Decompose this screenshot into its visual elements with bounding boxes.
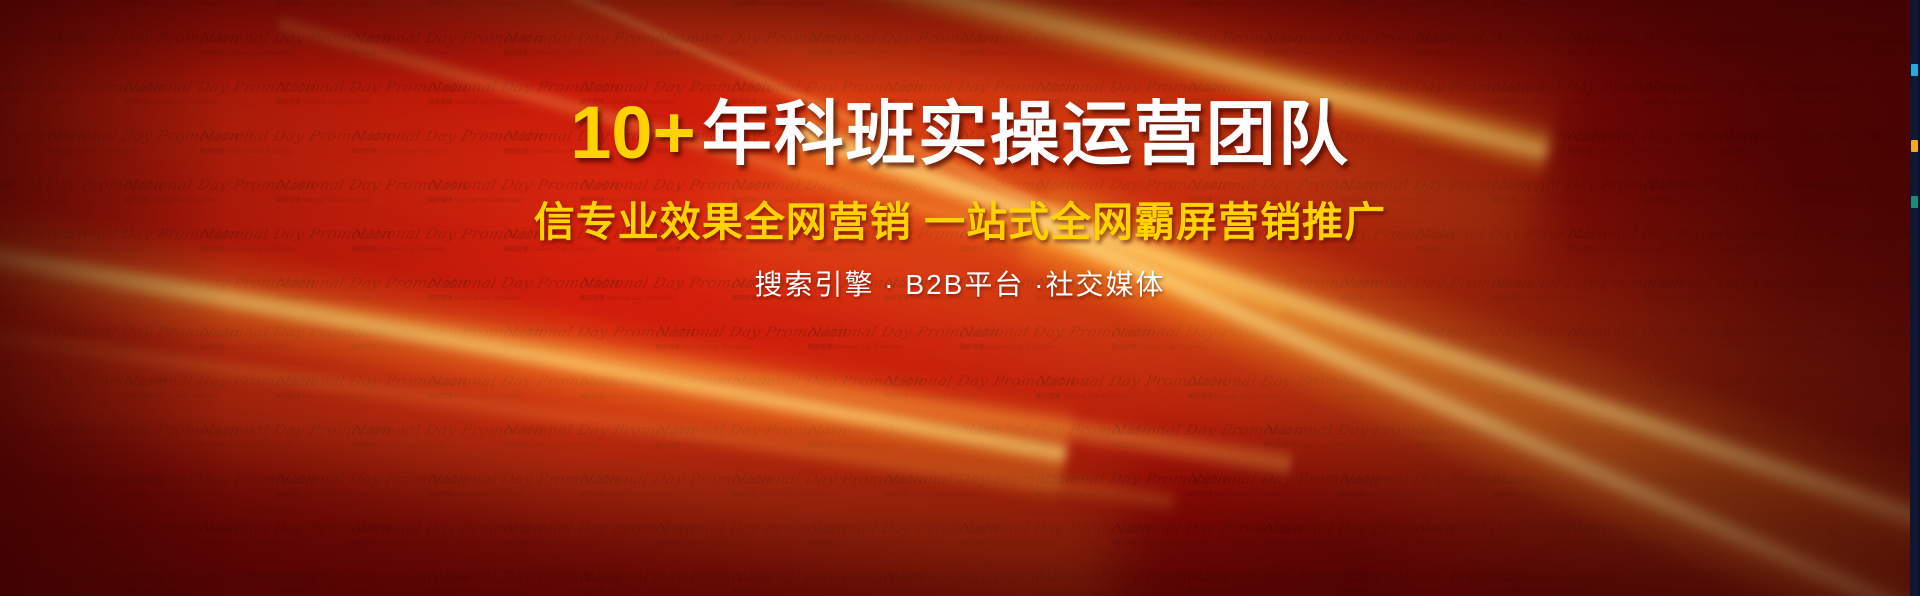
tagline: 搜索引擎 · B2B平台 ·社交媒体	[755, 271, 1166, 299]
banner-content: 10+年科班实操运营团队 信专业效果全网营销 一站式全网霸屏营销推广 搜索引擎 …	[0, 0, 1920, 596]
clipped-side-panel[interactable]	[1910, 0, 1920, 596]
promo-banner: National Day Promotion国庆促销 National Day …	[0, 0, 1920, 596]
edge-panel-marker-2[interactable]	[1911, 196, 1918, 208]
headline-text: 年科班实操运营团队	[702, 95, 1350, 173]
subtitle: 信专业效果全网营销 一站式全网霸屏营销推广	[534, 202, 1386, 243]
headline-highlight: 10+	[570, 91, 696, 174]
headline: 10+年科班实操运营团队	[570, 96, 1350, 170]
edge-panel-marker-1[interactable]	[1911, 140, 1918, 152]
edge-panel-marker-0[interactable]	[1911, 64, 1918, 76]
